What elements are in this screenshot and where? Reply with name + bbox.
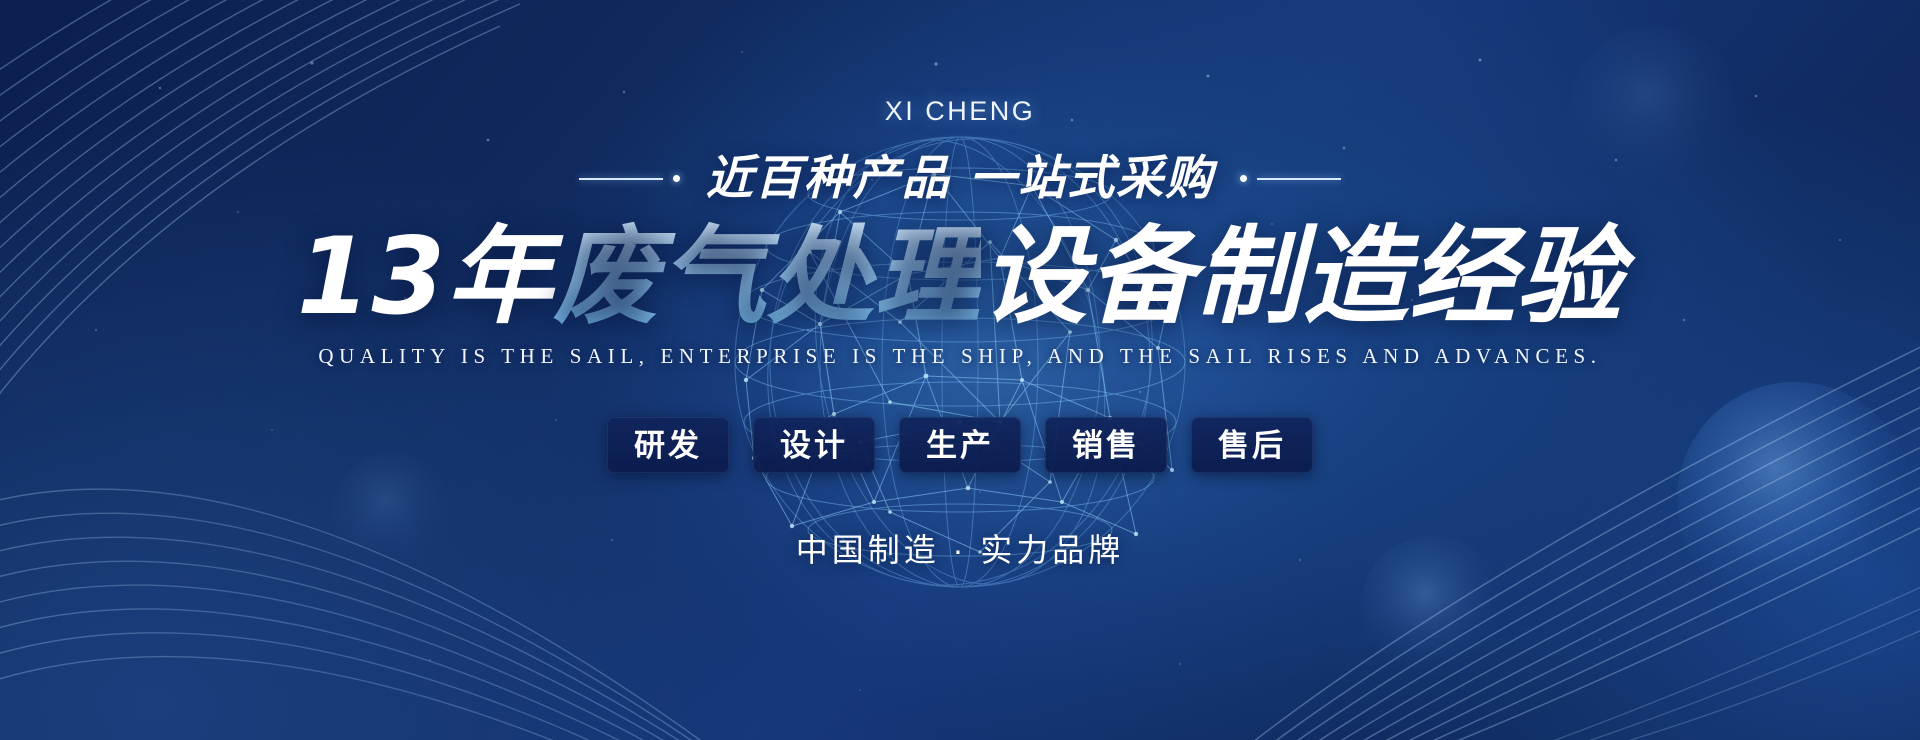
service-tag[interactable]: 售后 xyxy=(1191,417,1313,473)
service-tag[interactable]: 生产 xyxy=(899,417,1021,473)
footer-slogan: 中国制造 · 实力品牌 xyxy=(796,525,1124,571)
service-tag-list: 研发 设计 生产 销售 售后 xyxy=(607,417,1313,473)
subheadline-row: 近百种产品 一站式采购 xyxy=(579,155,1341,202)
right-rule-icon xyxy=(1257,178,1341,180)
english-tagline: QUALITY IS THE SAIL, ENTERPRISE IS THE S… xyxy=(318,344,1601,369)
decoration-right xyxy=(1240,175,1341,182)
left-rule-icon xyxy=(579,178,663,180)
service-tag[interactable]: 销售 xyxy=(1045,417,1167,473)
service-tag[interactable]: 研发 xyxy=(607,417,729,473)
headline-part-2: 设备制造经验 xyxy=(981,215,1623,338)
hero-banner: XI CHENG 近百种产品 一站式采购 13年废气处理设备制造经验 QUALI… xyxy=(0,0,1920,740)
service-tag[interactable]: 设计 xyxy=(753,417,875,473)
headline: 13年废气处理设备制造经验 xyxy=(297,220,1624,334)
decoration-left xyxy=(579,175,680,182)
headline-part-1: 13年 xyxy=(297,215,554,338)
banner-content: XI CHENG 近百种产品 一站式采购 13年废气处理设备制造经验 QUALI… xyxy=(0,0,1920,740)
right-dot-icon xyxy=(1240,175,1247,182)
subheadline: 近百种产品 一站式采购 xyxy=(706,155,1214,202)
headline-accent: 废气处理 xyxy=(553,215,981,338)
brand-latin-name: XI CHENG xyxy=(885,98,1036,125)
left-dot-icon xyxy=(673,175,680,182)
